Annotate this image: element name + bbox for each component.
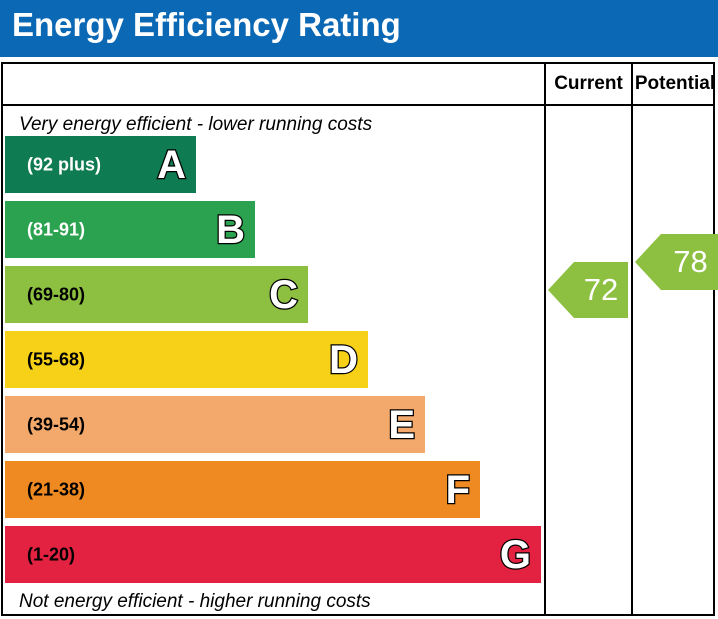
rating-band-g: (1-20) G	[5, 526, 541, 583]
potential-rating-value: 78	[661, 244, 718, 280]
band-letter-f: F	[446, 470, 470, 510]
rating-band-e: (39-54) E	[5, 396, 425, 453]
bottom-caption: Not energy efficient - higher running co…	[19, 591, 371, 613]
rating-band-c: (69-80) C	[5, 266, 308, 323]
potential-rating-marker: 78	[635, 232, 718, 292]
rating-band-b: (81-91) B	[5, 201, 255, 258]
rating-band-f: (21-38) F	[5, 461, 480, 518]
rating-band-d: (55-68) D	[5, 331, 368, 388]
header-divider	[3, 104, 713, 106]
band-range-e: (39-54)	[27, 414, 85, 435]
band-range-d: (55-68)	[27, 349, 85, 370]
potential-column-divider	[631, 64, 633, 614]
band-range-f: (21-38)	[27, 479, 85, 500]
band-range-a: (92 plus)	[27, 154, 101, 175]
band-letter-e: E	[388, 405, 415, 445]
band-range-g: (1-20)	[27, 544, 75, 565]
current-column-divider	[544, 64, 546, 614]
rating-table: Current Potential Very energy efficient …	[1, 62, 715, 616]
band-letter-b: B	[216, 210, 245, 250]
current-rating-value: 72	[574, 272, 628, 308]
page-title: Energy Efficiency Rating	[12, 6, 401, 44]
band-range-b: (81-91)	[27, 219, 85, 240]
band-letter-c: C	[269, 275, 298, 315]
band-letter-d: D	[329, 340, 358, 380]
band-range-c: (69-80)	[27, 284, 85, 305]
current-rating-marker: 72	[548, 260, 628, 320]
current-column-header: Current	[546, 73, 631, 95]
rating-band-a: (92 plus) A	[5, 136, 196, 193]
top-caption: Very energy efficient - lower running co…	[19, 114, 372, 136]
energy-efficiency-rating-chart: Energy Efficiency Rating Current Potenti…	[0, 0, 718, 619]
band-letter-a: A	[157, 145, 186, 185]
potential-column-header: Potential	[633, 73, 717, 95]
band-letter-g: G	[500, 535, 531, 575]
chart-header: Energy Efficiency Rating	[0, 0, 718, 57]
